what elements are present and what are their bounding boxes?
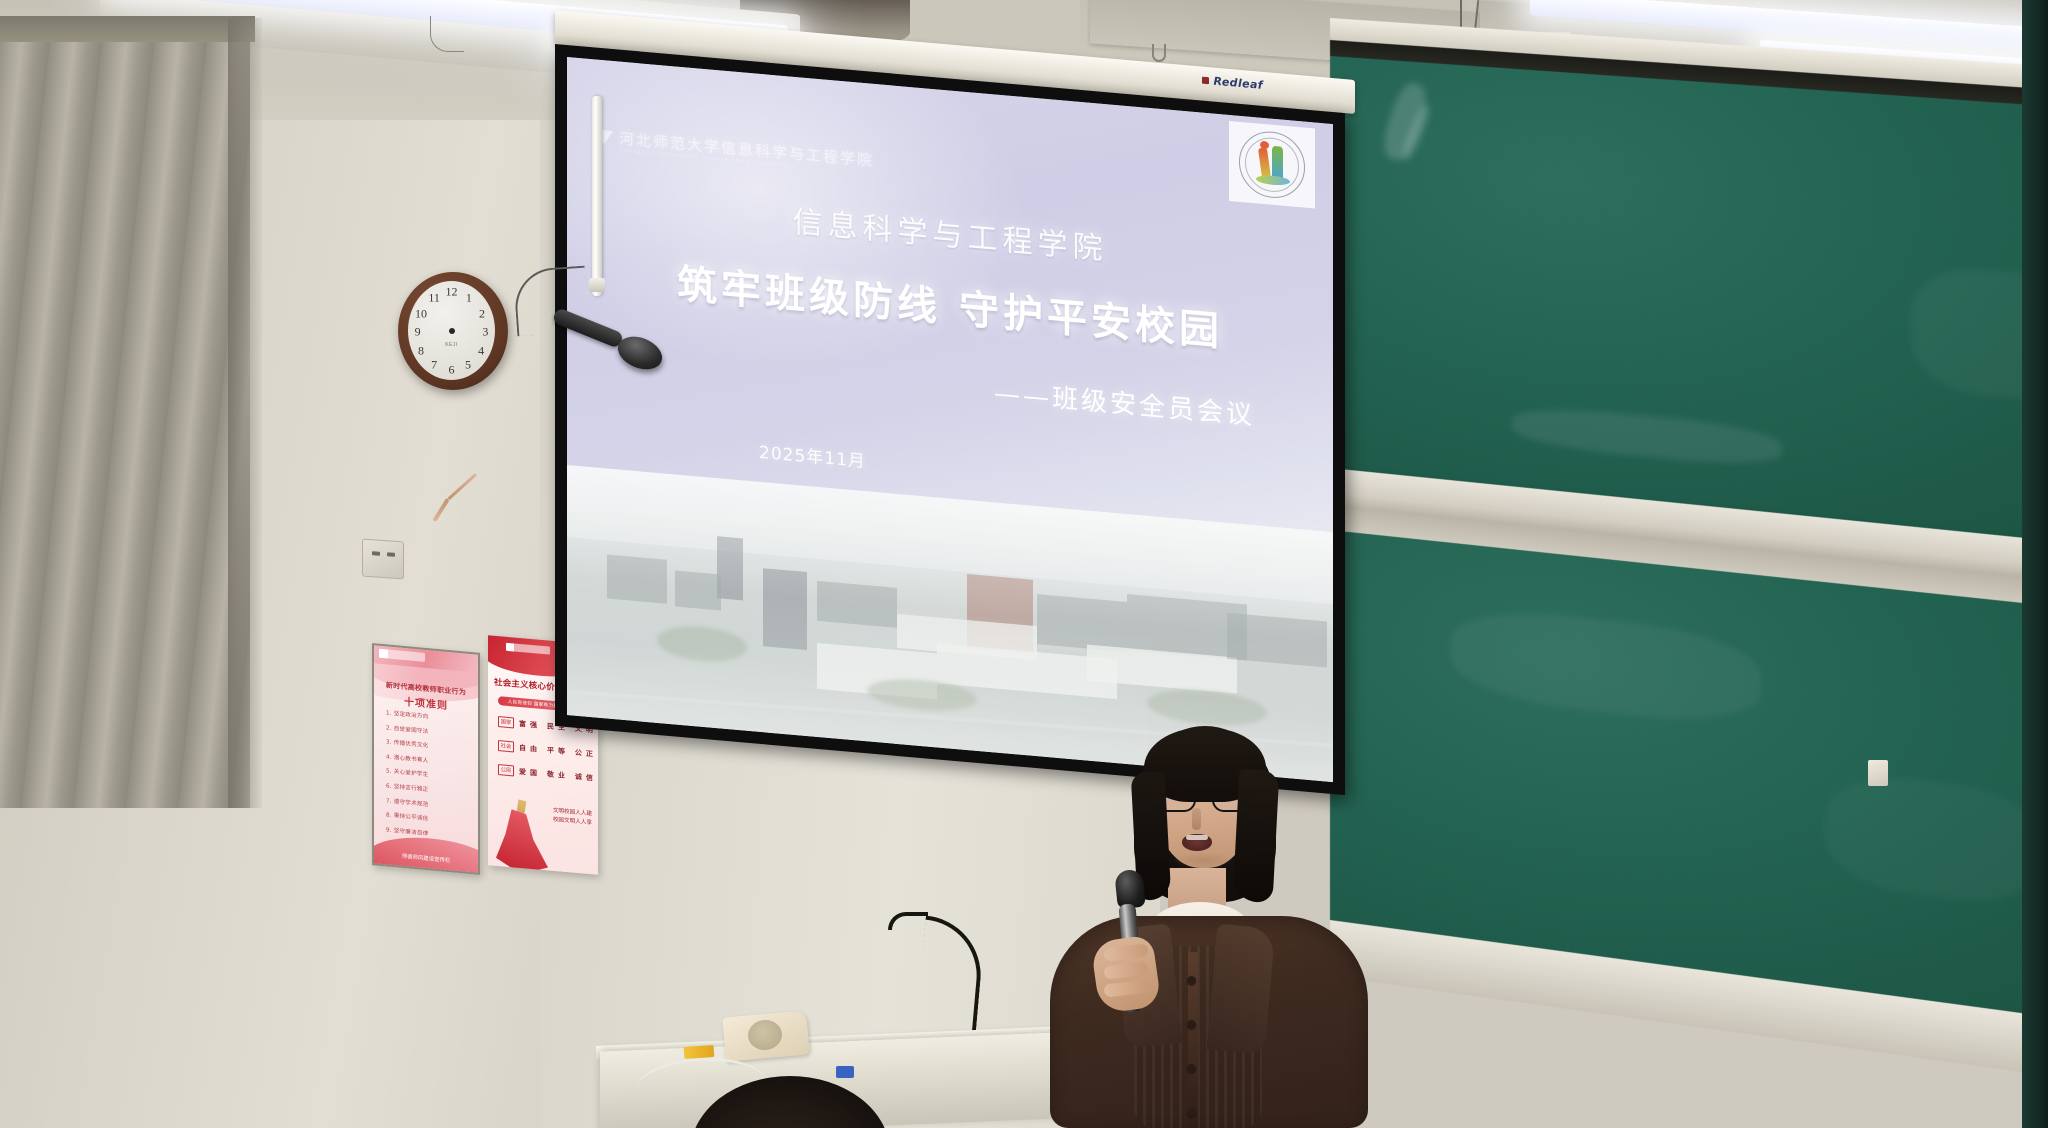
- clock-face: 12 1 2 3 4 5 6 7 8 9 10 11 KEJI: [408, 281, 495, 380]
- ceiling-hook: [1152, 44, 1166, 62]
- cardigan-button: [1187, 1108, 1196, 1117]
- clock-numeral: 3: [482, 325, 488, 340]
- projection-screen-surface: 河北师范大学信息科学与工程学院 College of Information S…: [567, 57, 1333, 782]
- poster-value-tag: 社会: [498, 740, 514, 752]
- speaker-cardigan-lapel-right: [1207, 924, 1276, 1055]
- emblem-letter-i: [1258, 148, 1271, 179]
- clock-numeral: 8: [418, 344, 424, 359]
- projection-screen-assembly: Redleaf 河北师范大学信息科学与工程学院 College: [555, 36, 1345, 795]
- chalk-smudge-area: [1511, 403, 1782, 470]
- clock-numeral: 11: [428, 290, 440, 305]
- poster-list-item: 2. 自觉爱国守法: [386, 723, 478, 739]
- speaker-nose: [1192, 808, 1201, 830]
- poster-teacher-conduct: 新时代高校教师职业行为 十项准则 1. 坚定政治方向 2. 自觉爱国守法 3. …: [372, 643, 480, 875]
- mic-hanging-pole: [592, 96, 602, 296]
- wall-power-socket[interactable]: [362, 539, 404, 580]
- curtain-rail: [0, 16, 255, 42]
- slide-university-logo: [1229, 121, 1315, 209]
- clock-numeral: 10: [415, 306, 427, 321]
- poster-list-item: 3. 传播优秀文化: [386, 738, 478, 754]
- clock-numeral: 5: [465, 358, 471, 373]
- clock-numeral: 2: [479, 306, 485, 321]
- emblem-wave: [1256, 174, 1290, 186]
- poster-list-item: 5. 关心爱护学生: [386, 767, 478, 783]
- speaker-person: [1060, 720, 1360, 1128]
- poster-slogan: 文明校园人人建 校园文明人人享: [553, 807, 592, 828]
- right-wall-edge: [2022, 0, 2048, 1128]
- speaker-chin-shadow: [1172, 852, 1234, 868]
- chalk-smudge-area: [1450, 603, 1761, 730]
- emblem-letter-i-dot: [1260, 141, 1269, 150]
- blackboard-wall-socket[interactable]: [1868, 760, 1888, 786]
- curtain-fold-edge: [228, 18, 262, 808]
- mic-ceiling-hook: [430, 16, 464, 52]
- clock-numeral: 7: [431, 358, 437, 373]
- poster-value-text: 爱国 敬业 诚信: [519, 766, 597, 783]
- poster-list-item: 7. 遵守学术规范: [386, 796, 478, 812]
- presentation-slide: 河北师范大学信息科学与工程学院 College of Information S…: [567, 57, 1333, 782]
- mic-pole-collar: [589, 278, 605, 292]
- clock-numeral: 12: [446, 284, 458, 299]
- clock-numeral: 1: [466, 290, 472, 305]
- chalk-smudge-area: [1825, 769, 2042, 911]
- poster-list-item: 6. 坚持言行雅正: [386, 781, 478, 797]
- clock-numeral: 9: [415, 325, 421, 340]
- screen-brand-label: Redleaf: [1214, 75, 1264, 92]
- university-emblem-icon: [1239, 129, 1305, 201]
- poster-value-tag: 公民: [498, 764, 514, 776]
- clock-numeral: 4: [478, 344, 484, 359]
- speaker-mouth: [1182, 834, 1212, 851]
- blackboard-assembly: [1330, 0, 2048, 1128]
- poster-value-row: 社会 自由 平等 公正: [498, 740, 597, 760]
- poster-list-item: 8. 秉持公平诚信: [386, 811, 478, 827]
- brand-mark-icon: [1202, 77, 1209, 85]
- cardigan-button: [1187, 1020, 1196, 1029]
- speaker-teeth: [1186, 835, 1208, 840]
- poster-list-item: 4. 潜心教书育人: [386, 752, 478, 768]
- slide-subtitle: ——班级安全员会议: [994, 372, 1255, 432]
- poster-value-row: 公民 爱国 敬业 诚信: [498, 764, 597, 784]
- cardigan-button: [1187, 976, 1196, 985]
- clock-center-pin: [449, 328, 455, 334]
- cardigan-button: [1187, 1064, 1196, 1073]
- clock-numeral: 6: [449, 363, 455, 378]
- poster-value-text: 自由 平等 公正: [519, 742, 597, 759]
- clock-brand-label: KEJI: [445, 342, 458, 348]
- poster-ribbon-graphic: [496, 808, 548, 875]
- speaker-hair-strand-right: [1233, 769, 1280, 903]
- podium-blue-device[interactable]: [836, 1066, 854, 1078]
- window-curtain: [0, 18, 250, 808]
- emblem-letter-s: [1272, 146, 1283, 183]
- wall-clock: 12 1 2 3 4 5 6 7 8 9 10 11 KEJI: [398, 272, 508, 390]
- classroom-scene: 12 1 2 3 4 5 6 7 8 9 10 11 KEJI 新时代高校教师职…: [0, 0, 2048, 1128]
- poster-value-tag: 国家: [498, 716, 514, 728]
- slide-date: 2025年11月: [759, 438, 866, 472]
